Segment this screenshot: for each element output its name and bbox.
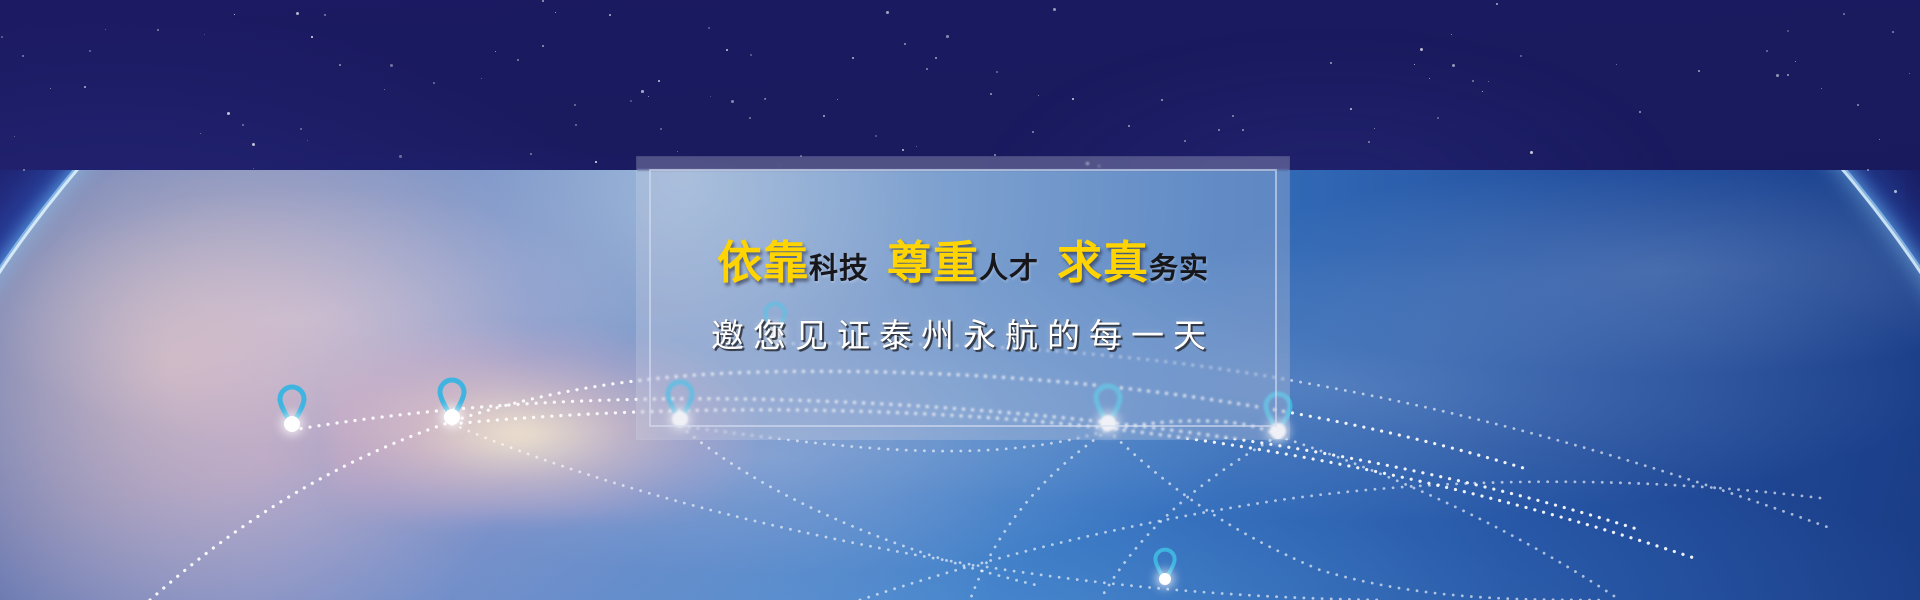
slogan-panel: 依靠科技尊重人才求真务实 邀您见证泰州永航的每一天: [637, 157, 1289, 439]
slogan-headline: 依靠科技尊重人才求真务实: [717, 240, 1209, 285]
slogan-subline: 邀您见证泰州永航的每一天: [711, 309, 1215, 357]
headline-seg-4: 人才: [979, 251, 1039, 285]
headline-seg-3: 尊重: [887, 236, 979, 289]
slogan-panel-content: 依靠科技尊重人才求真务实 邀您见证泰州永航的每一天: [637, 157, 1289, 439]
headline-seg-6: 务实: [1149, 251, 1209, 285]
headline-seg-5: 求真: [1057, 236, 1149, 289]
hero-banner: 依靠科技尊重人才求真务实 邀您见证泰州永航的每一天: [0, 0, 1920, 600]
headline-seg-2: 科技: [809, 251, 869, 285]
headline-seg-1: 依靠: [717, 236, 809, 289]
